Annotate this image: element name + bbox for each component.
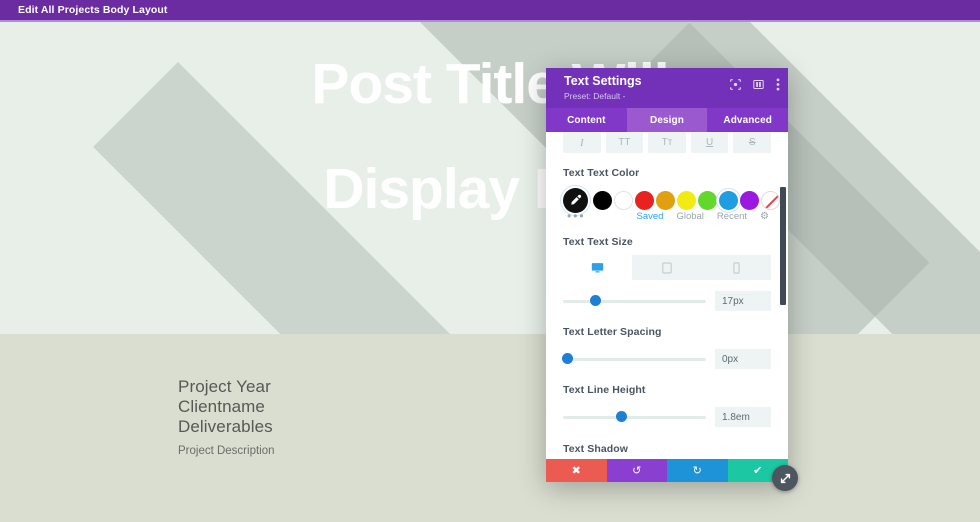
palette-tab-recent[interactable]: Recent (717, 211, 747, 222)
color-swatch-none[interactable] (761, 191, 780, 210)
letter-spacing-slider-knob[interactable] (562, 353, 573, 364)
modal-header-icons (730, 78, 780, 91)
letter-spacing-section: Text Letter Spacing (546, 311, 788, 338)
text-shadow-label: Text Shadow (563, 443, 771, 455)
hero-section: Post Title Will Display Here (0, 22, 980, 334)
color-swatch-yellow[interactable] (677, 191, 696, 210)
color-swatch-red[interactable] (635, 191, 654, 210)
resize-handle[interactable] (772, 465, 798, 491)
text-settings-modal: Text Settings Preset: Default - Content … (546, 68, 788, 482)
underline-button[interactable]: U (691, 132, 729, 153)
line-height-slider[interactable] (563, 416, 706, 419)
text-size-section: Text Text Size (546, 222, 788, 248)
line-height-slider-row: 1.8em (546, 407, 788, 427)
tab-content[interactable]: Content (546, 108, 627, 132)
project-meta-list: Project Year Clientname Deliverables (178, 377, 273, 437)
page-canvas: Post Title Will Display Here Project Yea… (0, 22, 980, 522)
text-shadow-section: Text Shadow (546, 427, 788, 455)
modal-header: Text Settings Preset: Default - (546, 68, 788, 108)
phone-device-tab[interactable] (702, 255, 771, 280)
letter-spacing-slider-row: 0px (546, 349, 788, 369)
desktop-device-tab[interactable] (563, 255, 632, 280)
uppercase-button[interactable]: TT (606, 132, 644, 153)
project-description: Project Description (178, 445, 275, 457)
device-breakpoint-tabs (563, 255, 771, 280)
admin-bar-title: Edit All Projects Body Layout (0, 4, 168, 16)
modal-preset-label[interactable]: Preset: Default - (564, 90, 778, 102)
letter-spacing-slider[interactable] (563, 358, 706, 361)
text-size-slider-knob[interactable] (590, 295, 601, 306)
project-meta-item: Deliverables (178, 417, 273, 437)
text-color-label: Text Text Color (563, 167, 771, 179)
strikethrough-button[interactable]: S (733, 132, 771, 153)
line-height-label: Text Line Height (563, 384, 771, 396)
text-size-slider-row: 17px (546, 291, 788, 311)
wp-admin-bar: Edit All Projects Body Layout (0, 0, 980, 20)
modal-scrollbar[interactable] (780, 132, 787, 459)
more-menu-icon[interactable] (776, 78, 780, 91)
color-swatch-black[interactable] (593, 191, 612, 210)
redo-button[interactable]: ↻ (667, 459, 728, 482)
text-size-value[interactable]: 17px (715, 291, 771, 311)
split-layout-icon[interactable] (753, 79, 764, 90)
undo-button[interactable]: ↺ (607, 459, 668, 482)
color-swatch-blue[interactable] (719, 191, 738, 210)
modal-scrollbar-thumb[interactable] (780, 187, 786, 305)
project-body-band (0, 334, 980, 522)
color-swatch-purple[interactable] (740, 191, 759, 210)
letter-spacing-value[interactable]: 0px (715, 349, 771, 369)
tablet-device-tab[interactable] (632, 255, 701, 280)
color-swatch-green[interactable] (698, 191, 717, 210)
gear-icon[interactable]: ⚙ (760, 211, 769, 222)
tab-advanced[interactable]: Advanced (707, 108, 788, 132)
color-swatch-white[interactable] (614, 191, 633, 210)
smallcaps-button[interactable]: Tт (648, 132, 686, 153)
color-swatch-orange[interactable] (656, 191, 675, 210)
line-height-slider-knob[interactable] (616, 411, 627, 422)
modal-body: I TT Tт U S Text Text Color (546, 132, 788, 459)
modal-footer: ✖ ↺ ↻ ✔ (546, 459, 788, 482)
tab-design[interactable]: Design (627, 108, 708, 132)
line-height-value[interactable]: 1.8em (715, 407, 771, 427)
admin-bar-underline (0, 20, 980, 22)
text-style-button-group: I TT Tт U S (546, 132, 788, 153)
chevron-shape (0, 22, 151, 87)
palette-tab-global[interactable]: Global (676, 211, 703, 222)
text-size-label: Text Text Size (563, 236, 771, 248)
italic-button[interactable]: I (563, 132, 601, 153)
text-size-slider[interactable] (563, 300, 706, 303)
color-swatch-list (563, 188, 771, 213)
cancel-button[interactable]: ✖ (546, 459, 607, 482)
focus-target-icon[interactable] (730, 79, 741, 90)
line-height-section: Text Line Height (546, 369, 788, 396)
letter-spacing-label: Text Letter Spacing (563, 326, 771, 338)
palette-tab-saved[interactable]: Saved (637, 211, 664, 222)
text-color-section: Text Text Color ••• Saved Global Recent (546, 153, 788, 222)
project-meta-item: Clientname (178, 397, 273, 417)
palette-tab-group: Saved Global Recent ⚙ (563, 211, 771, 222)
resize-arrow-icon (779, 472, 792, 485)
modal-tabs: Content Design Advanced (546, 108, 788, 132)
project-meta-item: Project Year (178, 377, 273, 397)
